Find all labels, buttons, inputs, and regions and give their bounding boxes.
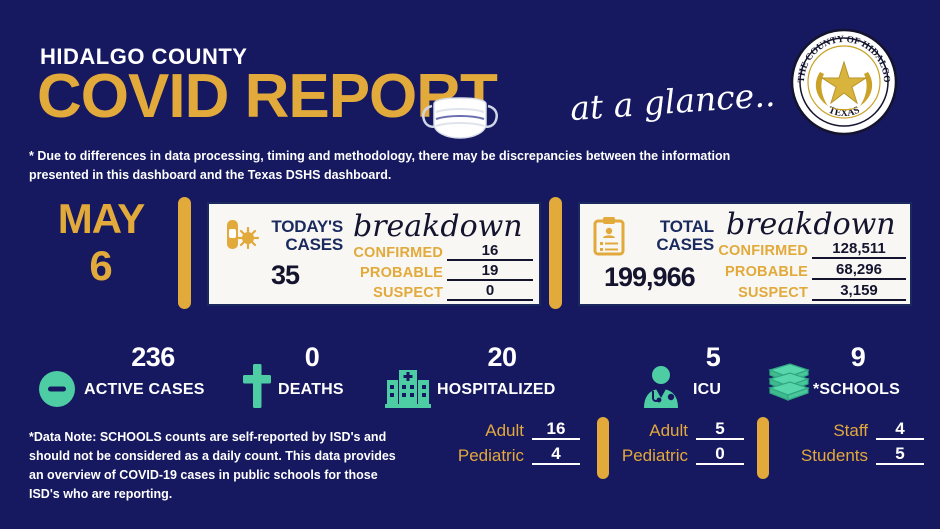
sub-value: 0 bbox=[696, 444, 744, 465]
at-a-glance-text: at a glance.. bbox=[569, 75, 776, 128]
disclaimer-text: * Due to differences in data processing,… bbox=[29, 147, 769, 185]
total-cases-panel: TOTAL CASES 199,966 breakdown CONFIRMED … bbox=[578, 202, 912, 306]
books-icon bbox=[760, 362, 814, 406]
breakdown-label: CONFIRMED bbox=[347, 246, 443, 261]
sub-value: 5 bbox=[696, 419, 744, 440]
breakdown-label: PROBABLE bbox=[714, 265, 808, 280]
report-date: MAY 6 bbox=[36, 198, 166, 292]
icu-breakdown-row-adult: Adult 5 bbox=[578, 419, 744, 440]
breakdown-label: SUSPECT bbox=[347, 286, 443, 301]
breakdown-value: 68,296 bbox=[812, 262, 906, 280]
icu-label: ICU bbox=[693, 381, 721, 398]
data-note: *Data Note: SCHOOLS counts are self-repo… bbox=[29, 428, 399, 504]
total-breakdown-script: breakdown bbox=[726, 207, 896, 242]
breakdown-value: 3,159 bbox=[812, 283, 906, 301]
deaths-number: 0 bbox=[282, 344, 342, 371]
deaths-label: DEATHS bbox=[278, 381, 344, 398]
total-cases-total: 199,966 bbox=[604, 262, 695, 293]
report-month: MAY bbox=[36, 198, 166, 240]
sub-label: Students bbox=[801, 447, 876, 465]
covid-report-infographic: HIDALGO COUNTY COVID REPORT at a glance.… bbox=[0, 0, 940, 529]
total-breakdown-row-probable: PROBABLE 68,296 bbox=[714, 262, 906, 280]
report-day: 6 bbox=[36, 240, 166, 292]
active-cases-number: 236 bbox=[110, 344, 196, 371]
total-cases-title-line2: CASES bbox=[630, 236, 714, 253]
test-tube-icon bbox=[221, 218, 261, 252]
icu-breakdown: Adult 5 Pediatric 0 bbox=[578, 419, 744, 469]
clipboard-icon bbox=[592, 216, 626, 256]
hospital-icon bbox=[385, 366, 431, 408]
todays-cases-panel: TODAY'S CASES 35 breakdown CONFIRMED 16 … bbox=[207, 202, 541, 306]
schools-label: *SCHOOLS bbox=[813, 381, 900, 398]
sub-label: Adult bbox=[649, 422, 696, 440]
hospitalized-breakdown-row-adult: Adult 16 bbox=[410, 419, 580, 440]
todays-cases-total: 35 bbox=[271, 260, 299, 291]
todays-breakdown-row-confirmed: CONFIRMED 16 bbox=[347, 243, 533, 261]
schools-breakdown-row-staff: Staff 4 bbox=[754, 419, 924, 440]
breakdown-value: 16 bbox=[447, 243, 533, 261]
cross-icon bbox=[243, 364, 271, 408]
sub-label: Adult bbox=[485, 422, 532, 440]
breakdown-value: 0 bbox=[447, 283, 533, 301]
schools-breakdown-row-students: Students 5 bbox=[754, 444, 924, 465]
todays-breakdown-script: breakdown bbox=[353, 209, 523, 244]
breakdown-value: 19 bbox=[447, 263, 533, 281]
breakdown-label: SUSPECT bbox=[714, 286, 808, 301]
breakdown-value: 128,511 bbox=[812, 241, 906, 259]
hospitalized-breakdown-row-pediatric: Pediatric 4 bbox=[410, 444, 580, 465]
hospitalized-breakdown: Adult 16 Pediatric 4 bbox=[410, 419, 580, 469]
breakdown-label: PROBABLE bbox=[347, 266, 443, 281]
todays-breakdown-row-suspect: SUSPECT 0 bbox=[347, 283, 533, 301]
breakdown-label: CONFIRMED bbox=[714, 244, 808, 259]
sub-value: 5 bbox=[876, 444, 924, 465]
todays-cases-title-line2: CASES bbox=[265, 236, 343, 253]
schools-number: 9 bbox=[828, 344, 888, 371]
divider-pill-left bbox=[178, 197, 191, 309]
face-mask-icon bbox=[418, 88, 502, 144]
county-seal-icon: THE COUNTY OF HIDALGO TEXAS bbox=[790, 28, 898, 136]
sub-value: 4 bbox=[532, 444, 580, 465]
icu-number: 5 bbox=[688, 344, 738, 371]
todays-breakdown-row-probable: PROBABLE 19 bbox=[347, 263, 533, 281]
sub-label: Staff bbox=[833, 422, 876, 440]
todays-cases-title-line1: TODAY'S bbox=[265, 218, 343, 235]
sub-label: Pediatric bbox=[458, 447, 532, 465]
icu-breakdown-row-pediatric: Pediatric 0 bbox=[578, 444, 744, 465]
sub-value: 4 bbox=[876, 419, 924, 440]
divider-pill-mid bbox=[549, 197, 562, 309]
hospitalized-number: 20 bbox=[462, 344, 542, 371]
total-breakdown-row-suspect: SUSPECT 3,159 bbox=[714, 283, 906, 301]
doctor-icon bbox=[640, 364, 682, 408]
schools-breakdown: Staff 4 Students 5 bbox=[754, 419, 924, 469]
minus-circle-icon bbox=[38, 370, 76, 408]
total-breakdown-row-confirmed: CONFIRMED 128,511 bbox=[714, 241, 906, 259]
total-cases-title-line1: TOTAL bbox=[630, 218, 714, 235]
hospitalized-label: HOSPITALIZED bbox=[437, 381, 556, 398]
active-cases-label: ACTIVE CASES bbox=[84, 381, 205, 398]
sub-value: 16 bbox=[532, 419, 580, 440]
sub-label: Pediatric bbox=[622, 447, 696, 465]
